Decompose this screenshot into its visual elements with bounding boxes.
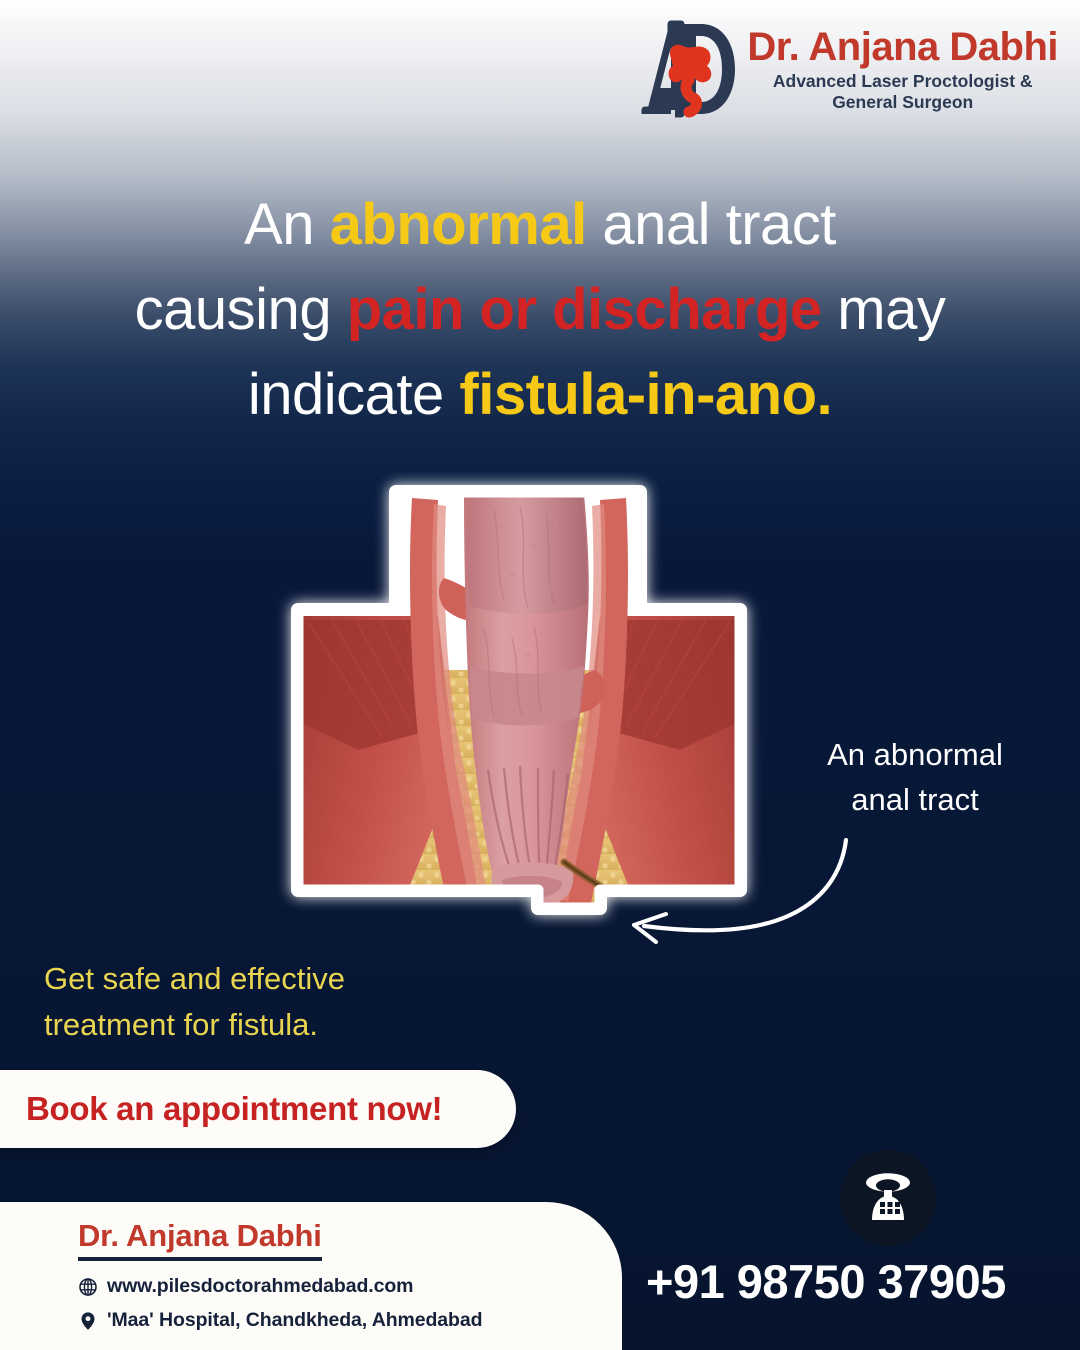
location-pin-icon	[78, 1310, 98, 1332]
telephone-icon	[858, 1171, 918, 1225]
anatomy-illustration	[288, 470, 750, 932]
address-row[interactable]: 'Maa' Hospital, Chandkheda, Ahmedabad	[78, 1309, 622, 1332]
book-appointment-button[interactable]: Book an appointment now!	[0, 1070, 516, 1148]
brand-logo-text: Dr. Anjana Dabhi Advanced Laser Proctolo…	[747, 26, 1058, 112]
brand-name: Dr. Anjana Dabhi	[747, 26, 1058, 68]
phone-icon-badge[interactable]	[840, 1150, 936, 1246]
headline-2a: causing	[135, 277, 347, 342]
brand-tagline: Advanced Laser Proctologist & General Su…	[773, 71, 1033, 112]
headline-1c: anal tract	[587, 192, 836, 257]
headline-2b: pain or discharge	[347, 277, 822, 342]
subtext-line-2: treatment for fistula.	[44, 1002, 564, 1048]
headline-line-3: indicate fistula-in-ano.	[0, 352, 1080, 437]
headline-2c: may	[822, 277, 946, 342]
address-text: 'Maa' Hospital, Chandkheda, Ahmedabad	[107, 1309, 482, 1332]
callout-line-1: An abnormal	[770, 732, 1060, 777]
poster-canvas: Dr. Anjana Dabhi Advanced Laser Proctolo…	[0, 0, 1080, 1350]
callout-line-2: anal tract	[770, 777, 1060, 822]
headline-line-2: causing pain or discharge may	[0, 267, 1080, 352]
headline-3b: fistula-in-ano.	[459, 362, 832, 427]
subtext: Get safe and effective treatment for fis…	[44, 956, 564, 1048]
headline-1b: abnormal	[330, 192, 587, 257]
footer-doctor-name-wrap: Dr. Anjana Dabhi	[78, 1218, 622, 1261]
headline-1a: An	[244, 192, 330, 257]
headline: An abnormal anal tract causing pain or d…	[0, 182, 1080, 437]
footer-doctor-name: Dr. Anjana Dabhi	[78, 1218, 322, 1261]
brand-logo[interactable]: Dr. Anjana Dabhi Advanced Laser Proctolo…	[641, 18, 1058, 120]
brand-tagline-line2: General Surgeon	[832, 92, 973, 112]
contact-card: Dr. Anjana Dabhi www.pilesdoctorahmedaba…	[0, 1202, 622, 1350]
headline-3a: indicate	[248, 362, 460, 427]
brand-tagline-line1: Advanced Laser Proctologist &	[773, 71, 1033, 91]
headline-line-1: An abnormal anal tract	[0, 182, 1080, 267]
logo-monogram-icon	[641, 18, 737, 120]
callout-label: An abnormal anal tract	[770, 732, 1060, 822]
subtext-line-1: Get safe and effective	[44, 956, 564, 1002]
phone-number[interactable]: +91 98750 37905	[646, 1254, 1006, 1309]
website-row[interactable]: www.pilesdoctorahmedabad.com	[78, 1275, 622, 1298]
website-text: www.pilesdoctorahmedabad.com	[107, 1275, 413, 1298]
book-appointment-label: Book an appointment now!	[26, 1090, 442, 1128]
globe-icon	[78, 1276, 98, 1298]
